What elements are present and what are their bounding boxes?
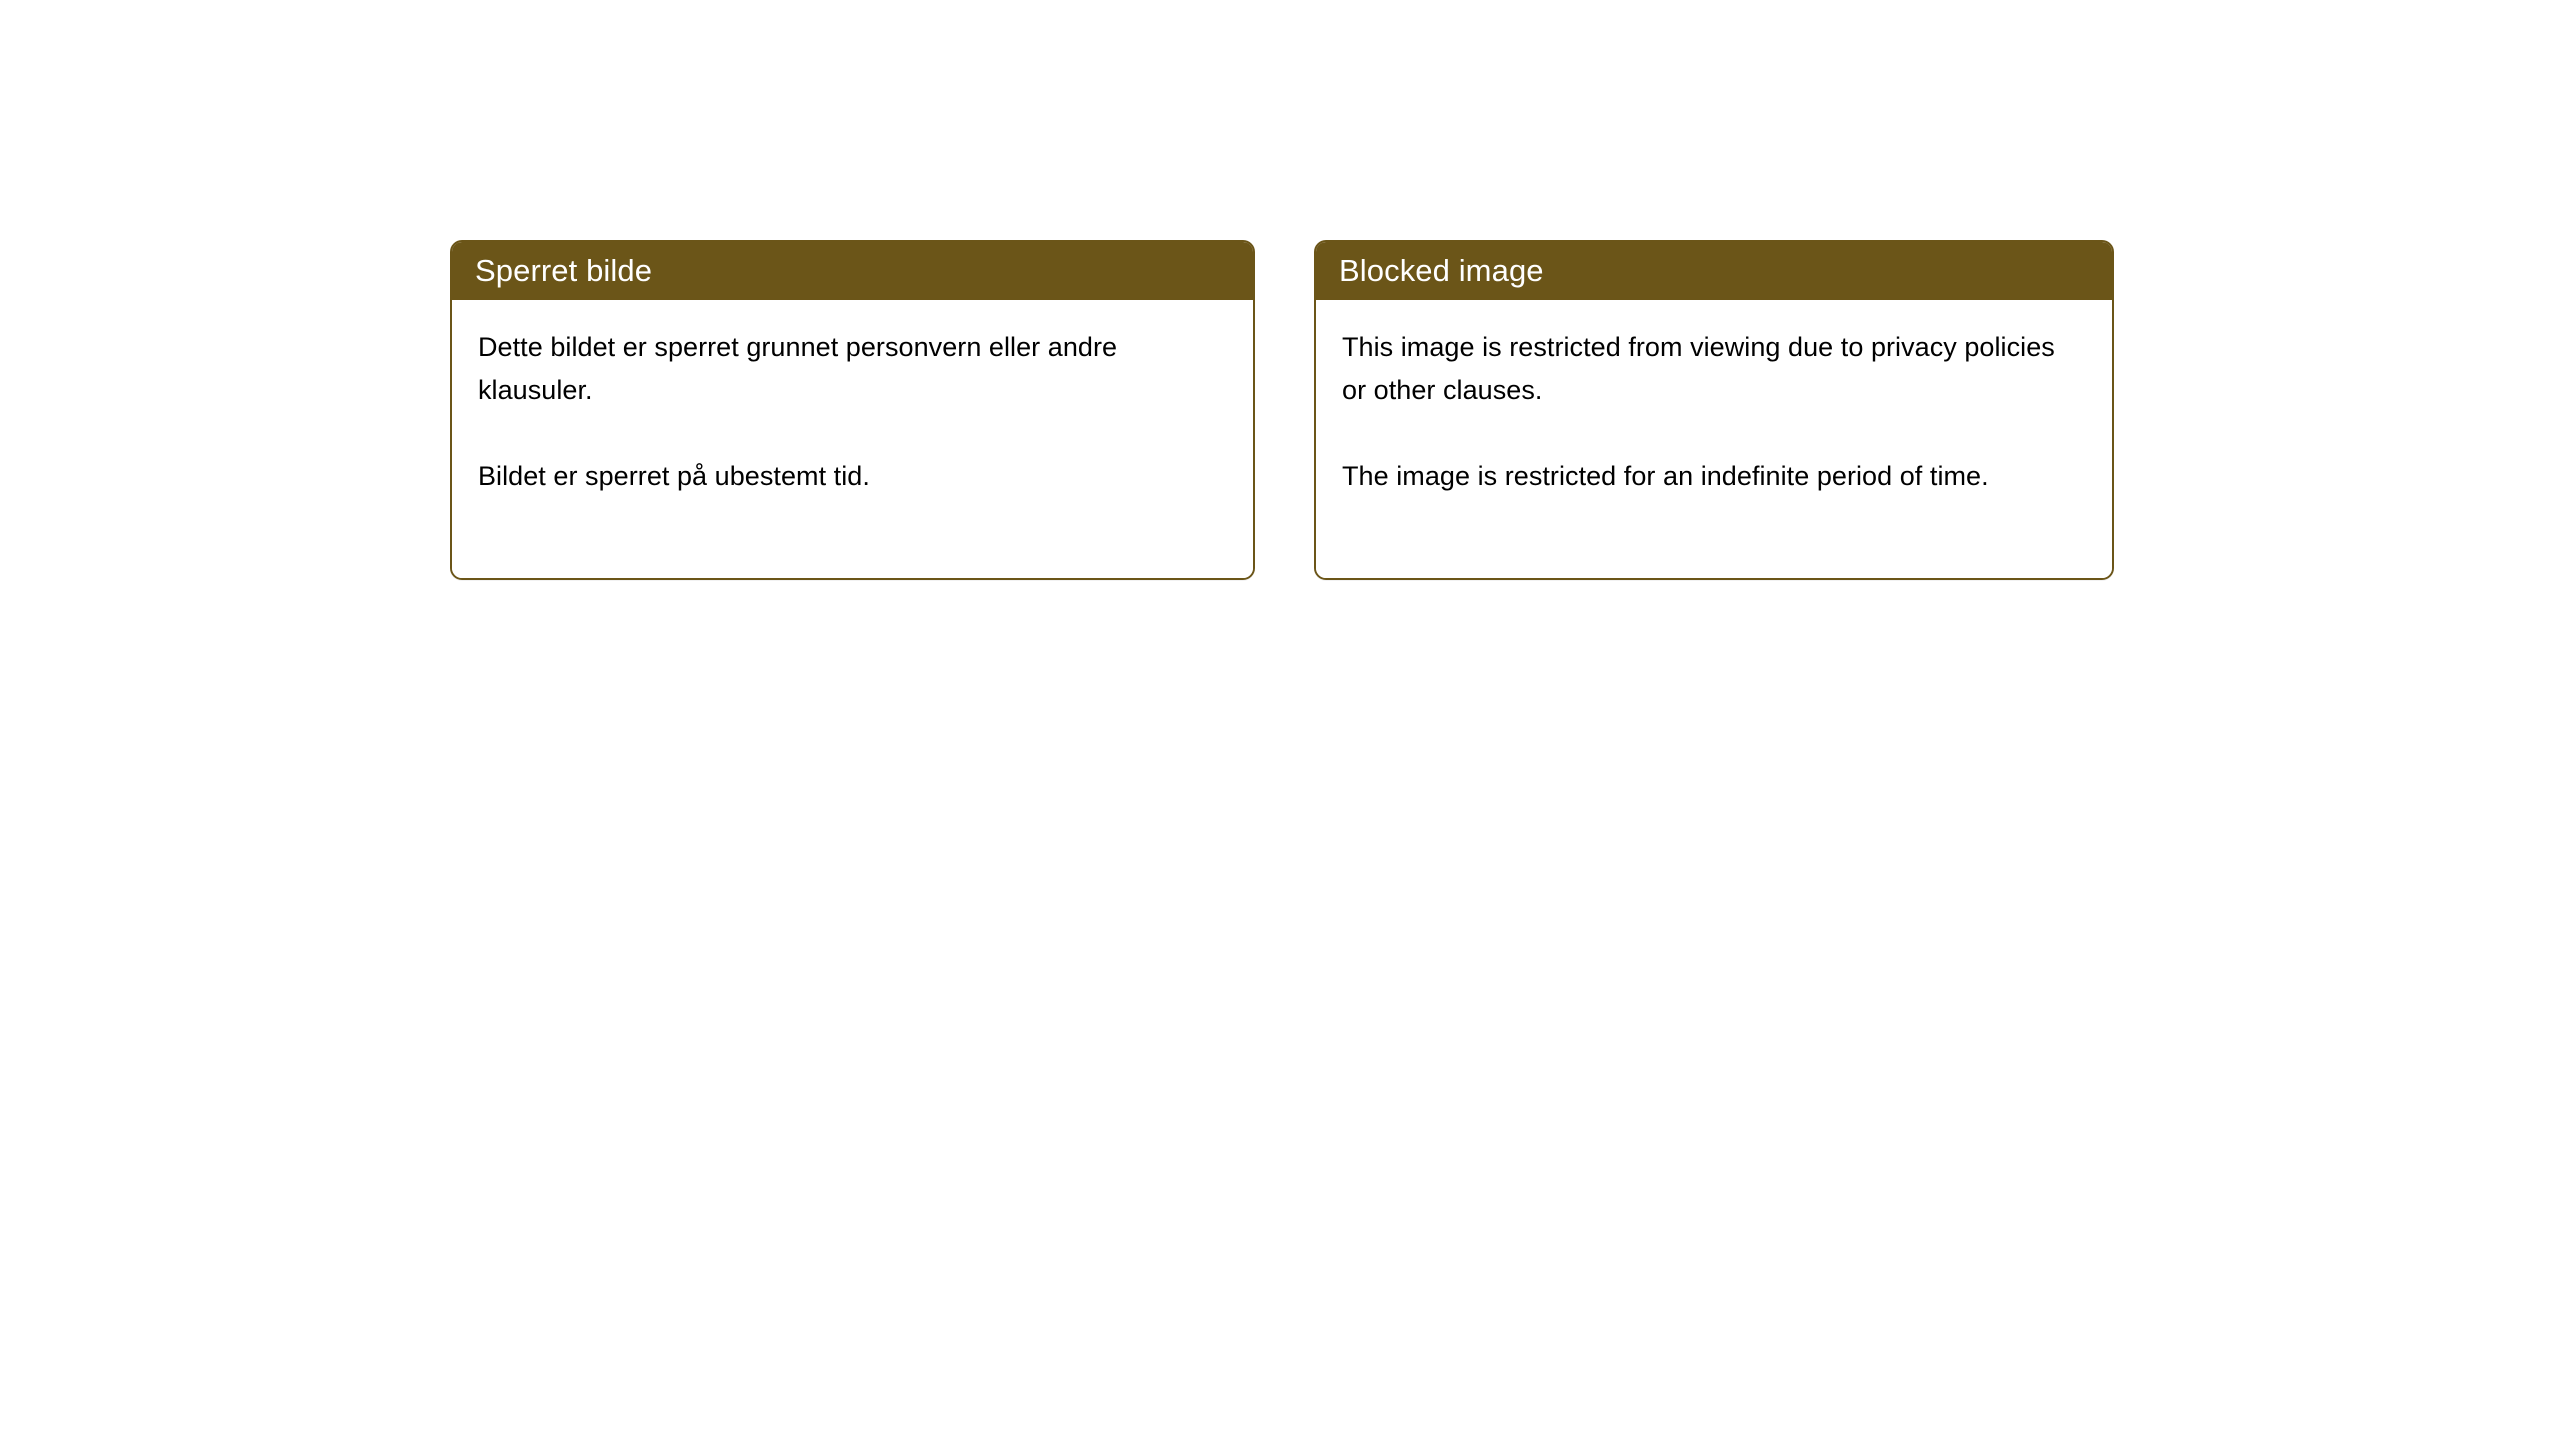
- card-paragraph-english-1: This image is restricted from viewing du…: [1342, 326, 2086, 412]
- blocked-image-card-norwegian: Sperret bilde Dette bildet er sperret gr…: [450, 240, 1255, 580]
- page-root: Sperret bilde Dette bildet er sperret gr…: [0, 0, 2560, 1440]
- blocked-image-card-english: Blocked image This image is restricted f…: [1314, 240, 2114, 580]
- card-paragraph-norwegian-2: Bildet er sperret på ubestemt tid.: [478, 455, 1227, 498]
- card-body-norwegian: Dette bildet er sperret grunnet personve…: [452, 300, 1253, 578]
- card-paragraph-norwegian-1: Dette bildet er sperret grunnet personve…: [478, 326, 1227, 412]
- blocked-image-notice-group: Sperret bilde Dette bildet er sperret gr…: [450, 240, 2114, 580]
- card-paragraph-english-2: The image is restricted for an indefinit…: [1342, 455, 2086, 498]
- card-title-english: Blocked image: [1339, 254, 1544, 288]
- card-header-english: Blocked image: [1315, 241, 2113, 300]
- card-title-norwegian: Sperret bilde: [475, 254, 652, 288]
- card-body-english: This image is restricted from viewing du…: [1316, 300, 2112, 578]
- card-header-norwegian: Sperret bilde: [451, 241, 1254, 300]
